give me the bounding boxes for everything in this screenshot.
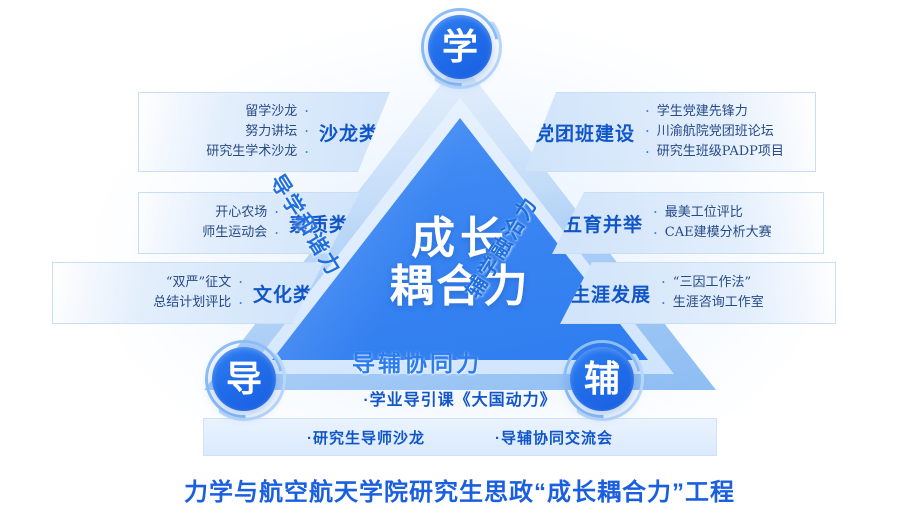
panel-item: 研究生学术沙龙 xyxy=(206,142,297,162)
core-label-line1: 成长 xyxy=(300,215,620,263)
panel-item: 留学沙龙 xyxy=(245,102,297,122)
edge-label-bottom: 导辅协同力 xyxy=(352,344,482,378)
panel-item-list: 留学沙龙· 努力讲坛· 研究生学术沙龙· xyxy=(206,102,309,162)
bullet-icon: · xyxy=(304,124,309,139)
panel-item: 开心农场 xyxy=(215,203,267,223)
panel-item: 生涯咨询工作室 xyxy=(673,293,764,313)
bullet-icon: · xyxy=(304,104,309,119)
badge-disc: 学 xyxy=(428,15,492,79)
panel-item-list: “双严”征文· 总结计划评比· xyxy=(153,273,243,313)
bottom-activity-item: ·研究生导师沙龙 xyxy=(307,427,425,448)
bullet-icon: · xyxy=(661,275,666,290)
bullet-icon: · xyxy=(645,145,650,160)
badge-fu[interactable]: 辅 xyxy=(563,340,641,418)
bullet-icon: · xyxy=(645,104,650,119)
panel-item: 努力讲坛 xyxy=(245,122,297,142)
bullet-icon: · xyxy=(304,145,309,160)
diagram-canvas: 成长 耦合力 导学和谐力 辅学融洽力 导辅协同力 学 导 辅 留学沙龙· 努力讲… xyxy=(0,0,919,524)
panel-item-list: ·“三因工作法” ·生涯咨询工作室 xyxy=(661,273,764,313)
badge-xue[interactable]: 学 xyxy=(421,8,499,86)
page-title: 力学与航空航天学院研究生思政“成长耦合力”工程 xyxy=(0,472,919,507)
bullet-icon: · xyxy=(645,124,650,139)
panel-item: CAE建模分析大赛 xyxy=(665,223,772,243)
panel-right-dangtuan[interactable]: 党团班建设 ·学生党建先锋力 ·川渝航院党团班论坛 ·研究生班级PADP项目 xyxy=(524,92,816,172)
panel-left-wenhua[interactable]: “双严”征文· 总结计划评比· 文化类 xyxy=(52,262,324,324)
panel-item: 学生党建先锋力 xyxy=(657,102,748,122)
panel-item: 总结计划评比 xyxy=(153,293,231,313)
badge-disc: 辅 xyxy=(570,347,634,411)
bullet-icon: · xyxy=(274,226,279,241)
panel-category: 党团班建设 xyxy=(535,119,635,146)
panel-item: 研究生班级PADP项目 xyxy=(657,142,784,162)
panel-category: 沙龙类 xyxy=(319,119,379,146)
panel-item-list: 开心农场· 师生运动会· xyxy=(202,203,279,243)
panel-item: “三因工作法” xyxy=(673,273,751,293)
bullet-icon: · xyxy=(653,226,658,241)
bullet-icon: · xyxy=(238,275,243,290)
bullet-icon: · xyxy=(653,205,658,220)
badge-glyph: 辅 xyxy=(584,361,620,397)
bullet-icon: · xyxy=(238,296,243,311)
bottom-activity-bar: ·研究生导师沙龙 ·导辅协同交流会 xyxy=(203,418,717,456)
bottom-activity-item: ·导辅协同交流会 xyxy=(495,427,613,448)
badge-glyph: 学 xyxy=(442,29,478,65)
badge-disc: 导 xyxy=(212,347,276,411)
bullet-icon: · xyxy=(661,296,666,311)
badge-glyph: 导 xyxy=(226,361,262,397)
panel-item: 最美工位评比 xyxy=(665,203,743,223)
panel-item: 师生运动会 xyxy=(202,223,267,243)
panel-item: 川渝航院党团班论坛 xyxy=(657,122,774,142)
badge-dao[interactable]: 导 xyxy=(205,340,283,418)
panel-left-salon[interactable]: 留学沙龙· 努力讲坛· 研究生学术沙龙· 沙龙类 xyxy=(138,92,390,172)
panel-item: “双严”征文 xyxy=(166,273,231,293)
panel-item-list: ·最美工位评比 ·CAE建模分析大赛 xyxy=(653,203,772,243)
panel-item-list: ·学生党建先锋力 ·川渝航院党团班论坛 ·研究生班级PADP项目 xyxy=(645,102,784,162)
